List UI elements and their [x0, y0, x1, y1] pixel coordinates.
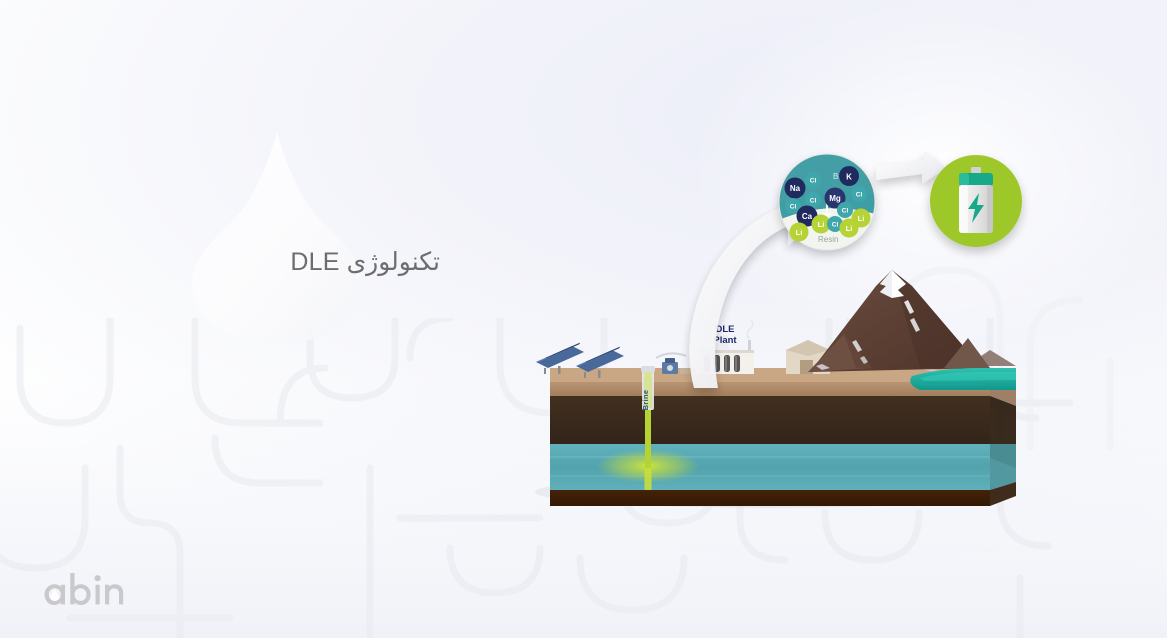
ion-cl: Cl: [810, 178, 817, 185]
ion-li: Li: [846, 224, 853, 233]
plant-label-line2: Plant: [713, 335, 737, 346]
wellhead-cap: [641, 366, 655, 372]
ion-cl: Cl: [790, 204, 797, 211]
ion-cl: Cl: [810, 198, 817, 205]
arrow-resin-to-battery: [876, 150, 946, 184]
page-title: تکنولوژی DLE: [150, 247, 440, 277]
ion-li: Li: [796, 228, 803, 237]
slide-canvas: تکنولوژی DLE: [0, 0, 1167, 638]
ion-na: Na: [790, 184, 801, 193]
brand-logo[interactable]: [44, 570, 149, 612]
ion-mg: Mg: [829, 194, 841, 203]
layer-rock-overburden: [550, 396, 990, 444]
ion-k: K: [846, 173, 852, 182]
ion-li: Li: [818, 220, 825, 229]
ion-cl: Cl: [832, 222, 839, 229]
well-label: Brine: [641, 390, 650, 411]
battery-output: [930, 155, 1022, 247]
layer-bedrock: [550, 490, 990, 506]
ion-ca: Ca: [802, 212, 813, 221]
ion-exchange-circle: Brine Resin Na Cl K Cl: [779, 154, 875, 250]
resin-zone-label: Resin: [818, 235, 838, 244]
water-droplet-shape: [168, 128, 386, 348]
ion-cl: Cl: [842, 208, 849, 215]
plant-label-line1: DLE: [716, 324, 735, 335]
battery-terminal: [971, 167, 981, 173]
ion-li: Li: [858, 214, 865, 223]
ion-cl: Cl: [856, 192, 863, 199]
mountain-range: [808, 270, 1016, 372]
dle-process-illustration: Brine: [520, 100, 1060, 520]
